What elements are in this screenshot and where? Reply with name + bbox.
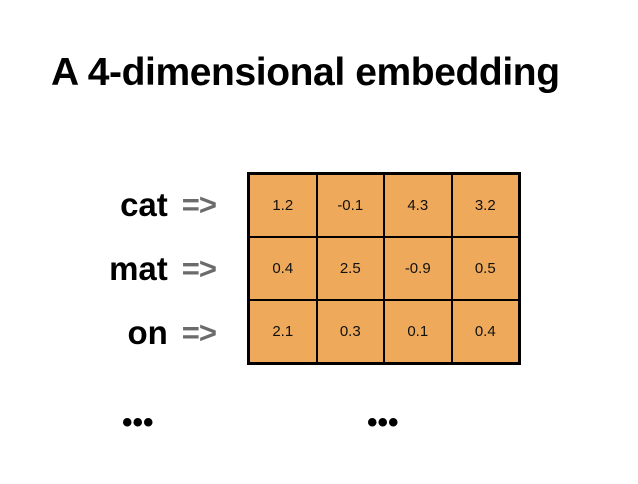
embedding-cell: 0.4 — [250, 238, 318, 299]
label-row: mat => — [40, 236, 240, 300]
embedding-cell: -0.1 — [318, 175, 386, 236]
words-continuation-ellipsis: ••• — [122, 408, 154, 438]
table-row: 2.1 0.3 0.1 0.4 — [250, 301, 518, 362]
word-label: on — [82, 316, 168, 349]
page-title: A 4-dimensional embedding — [51, 50, 611, 96]
embedding-matrix: 1.2 -0.1 4.3 3.2 0.4 2.5 -0.9 0.5 2.1 0.… — [247, 172, 521, 365]
embedding-cell: 1.2 — [250, 175, 318, 236]
maps-to-arrow-icon: => — [182, 253, 216, 284]
label-row: cat => — [40, 172, 240, 236]
table-row: 0.4 2.5 -0.9 0.5 — [250, 238, 518, 301]
maps-to-arrow-icon: => — [182, 189, 216, 220]
embedding-cell: -0.9 — [385, 238, 453, 299]
word-label: cat — [82, 188, 168, 221]
embedding-cell: 4.3 — [385, 175, 453, 236]
embedding-cell: 0.3 — [318, 301, 386, 362]
embedding-cell: 0.5 — [453, 238, 519, 299]
embedding-cell: 0.4 — [453, 301, 519, 362]
label-row: on => — [40, 301, 240, 365]
slide-canvas: A 4-dimensional embedding cat => mat => … — [0, 0, 638, 484]
embedding-cell: 0.1 — [385, 301, 453, 362]
word-label-column: cat => mat => on => — [40, 172, 240, 365]
word-label: mat — [82, 252, 168, 285]
embedding-cell: 3.2 — [453, 175, 519, 236]
table-row: 1.2 -0.1 4.3 3.2 — [250, 175, 518, 238]
matrix-continuation-ellipsis: ••• — [367, 408, 399, 438]
embedding-cell: 2.5 — [318, 238, 386, 299]
maps-to-arrow-icon: => — [182, 317, 216, 348]
embedding-cell: 2.1 — [250, 301, 318, 362]
